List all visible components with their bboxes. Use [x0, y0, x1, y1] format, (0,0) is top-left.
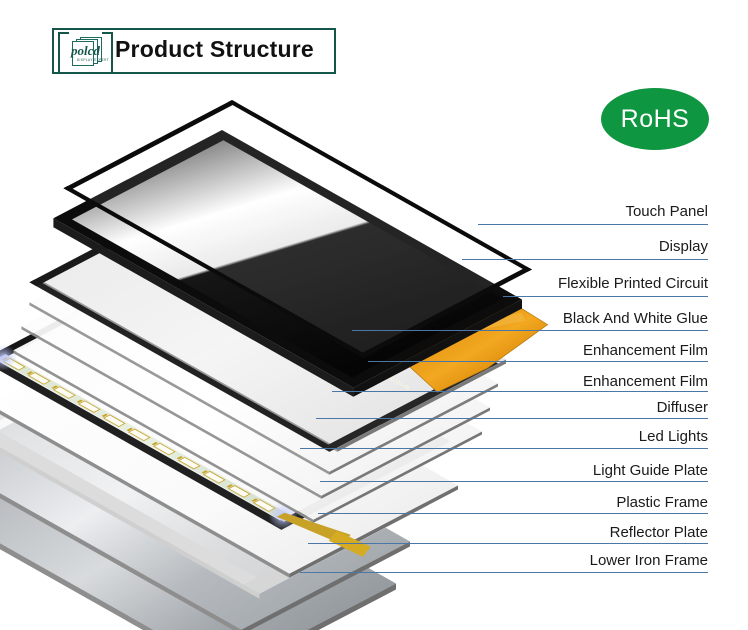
layer-label-led-lights: Led Lights: [639, 428, 708, 445]
layer-label-enhancement-film-1: Enhancement Film: [583, 342, 708, 359]
leader-line-display: [462, 259, 708, 260]
leader-line-reflector-plate: [308, 543, 708, 544]
layer-label-plastic-frame: Plastic Frame: [616, 494, 708, 511]
leader-line-touch-panel: [478, 224, 708, 225]
leader-line-diffuser: [316, 418, 708, 419]
layer-label-lower-iron-frame: Lower Iron Frame: [590, 552, 708, 569]
product-structure-diagram: polcd DISPLAY EXPERT Product Structure R…: [0, 0, 748, 630]
layer-label-enhancement-film-2: Enhancement Film: [583, 373, 708, 390]
layer-label-diffuser: Diffuser: [657, 399, 708, 416]
leader-line-lower-iron-frame: [300, 572, 708, 573]
layer-label-reflector-plate: Reflector Plate: [610, 524, 708, 541]
leader-line-light-guide-plate: [320, 481, 708, 482]
leader-line-flexible-printed-circuit: [503, 296, 708, 297]
leader-line-led-lights: [300, 448, 708, 449]
layer-label-display: Display: [659, 238, 708, 255]
leader-line-enhancement-film-2: [332, 391, 708, 392]
layer-label-touch-panel: Touch Panel: [625, 203, 708, 220]
leader-line-enhancement-film-1: [368, 361, 708, 362]
leader-line-black-and-white-glue: [352, 330, 708, 331]
leader-line-plastic-frame: [318, 513, 708, 514]
layer-label-light-guide-plate: Light Guide Plate: [593, 462, 708, 479]
layer-label-black-and-white-glue: Black And White Glue: [563, 310, 708, 327]
layer-label-flexible-printed-circuit: Flexible Printed Circuit: [558, 275, 708, 292]
